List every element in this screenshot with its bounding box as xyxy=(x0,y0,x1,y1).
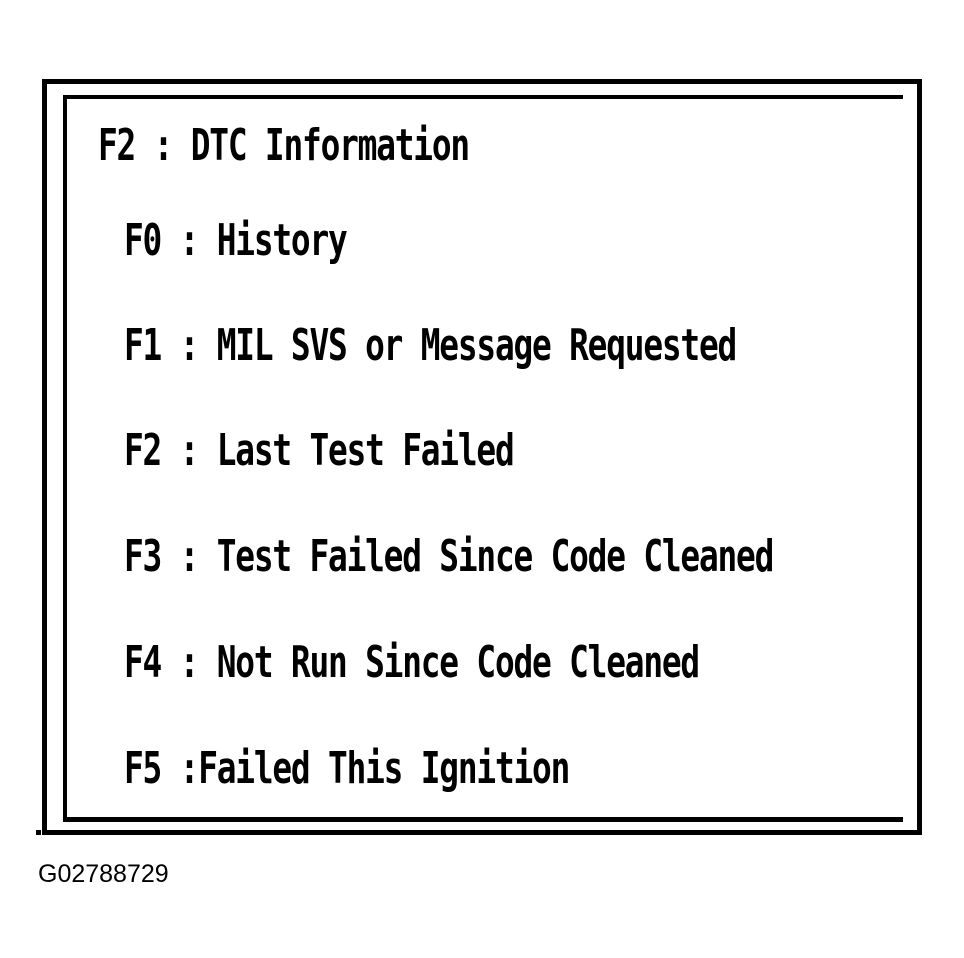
figure-caption: G02788729 xyxy=(38,860,169,889)
menu-item-f0-history[interactable]: F0 : History xyxy=(124,219,347,262)
menu-item-f4-not-run-since-code-cleaned[interactable]: F4 : Not Run Since Code Cleaned xyxy=(124,641,699,684)
menu-item-f1-mil-svs-or-message-requested[interactable]: F1 : MIL SVS or Message Requested xyxy=(124,324,736,367)
scan-tool-screen-content: F2 : DTC Information F0 : History F1 : M… xyxy=(0,0,964,958)
menu-item-f5-failed-this-ignition[interactable]: F5 :Failed This Ignition xyxy=(124,747,569,790)
figure-canvas: F2 : DTC Information F0 : History F1 : M… xyxy=(0,0,964,958)
page-title: F2 : DTC Information xyxy=(98,124,469,167)
menu-item-f2-last-test-failed[interactable]: F2 : Last Test Failed xyxy=(124,429,514,472)
menu-item-f3-test-failed-since-code-cleaned[interactable]: F3 : Test Failed Since Code Cleaned xyxy=(124,535,773,578)
